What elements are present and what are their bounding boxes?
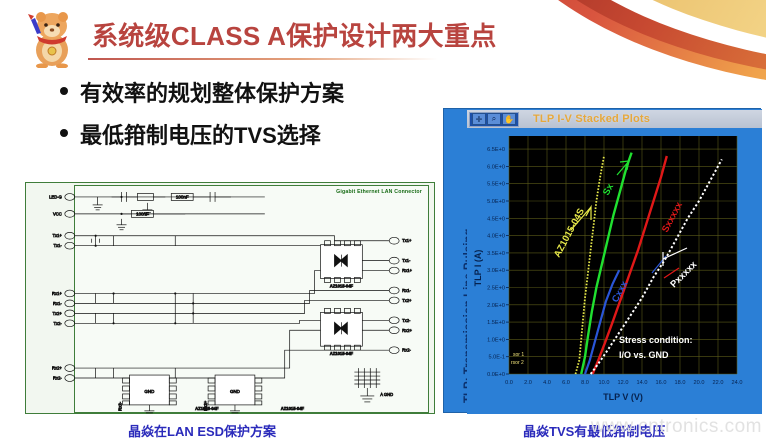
- svg-text:Rx2+: Rx2+: [402, 328, 412, 333]
- svg-text:2.0: 2.0: [524, 380, 532, 386]
- list-item: 最低箝制电压的TVS选择: [60, 118, 344, 150]
- svg-text:Tx2+: Tx2+: [52, 311, 62, 316]
- svg-text:6.5E+0: 6.5E+0: [487, 147, 505, 153]
- tlp-plot: 0.0E+0 5.0E-1 1.0E+0 1.5E+0 2.0E+0 2.5E+…: [467, 128, 762, 414]
- svg-text:Rx2-: Rx2-: [53, 376, 62, 381]
- svg-text:100nF: 100nF: [136, 211, 149, 216]
- cursor-legend-2: rsor 2: [511, 360, 524, 366]
- svg-text:Rx2-: Rx2-: [118, 401, 123, 411]
- move-icon[interactable]: ✛: [472, 113, 486, 125]
- bullet-list: 有效率的规划整体保护方案 最低箝制电压的TVS选择: [60, 76, 344, 160]
- bullet-text: 有效率的规划整体保护方案: [80, 76, 344, 108]
- lan-esd-schematic: Gigabit Ethernet LAN Connector LED-G VCC…: [25, 182, 435, 414]
- caption-left: 晶焱在LAN ESD保护方案: [128, 421, 276, 440]
- stress-condition-line1: Stress condition:: [619, 335, 693, 345]
- x-axis-title: TLP V (V): [603, 392, 643, 402]
- svg-text:2.0E+0: 2.0E+0: [487, 303, 505, 309]
- svg-text:Rx2+: Rx2+: [52, 366, 62, 371]
- tlp-chart-panel: TLP: Transmission Line Pulsing ✛ ⌕ ✋ TLP…: [443, 108, 761, 413]
- svg-text:4.0E+0: 4.0E+0: [487, 234, 505, 240]
- cursor-legend-1: sor 1: [513, 352, 524, 358]
- pan-icon[interactable]: ✋: [502, 113, 516, 125]
- svg-text:10.0: 10.0: [599, 380, 610, 386]
- svg-text:1.0E+0: 1.0E+0: [487, 337, 505, 343]
- page-title: 系统级CLASS A保护设计两大重点: [92, 16, 497, 53]
- svg-text:AZ1015-04F: AZ1015-04F: [281, 406, 305, 411]
- tlp-side-label-wrap: TLP: Transmission Line Pulsing: [447, 115, 469, 407]
- svg-text:3.0E+0: 3.0E+0: [487, 268, 505, 274]
- svg-text:Tx1-: Tx1-: [54, 243, 63, 248]
- svg-text:Rx1-: Rx1-: [402, 288, 411, 293]
- svg-text:Rx1-: Rx1-: [53, 301, 62, 306]
- svg-text:6.0: 6.0: [562, 380, 570, 386]
- svg-text:20.0: 20.0: [694, 380, 705, 386]
- bullet-dot-icon: [60, 129, 68, 137]
- svg-text:8.0: 8.0: [581, 380, 589, 386]
- svg-text:4.0: 4.0: [543, 380, 551, 386]
- svg-text:Tx1+: Tx1+: [52, 233, 62, 238]
- tlp-titlebar: ✛ ⌕ ✋ TLP I-V Stacked Plots: [467, 110, 762, 128]
- svg-text:100nF: 100nF: [176, 194, 189, 199]
- svg-text:Tx2+: Tx2+: [402, 298, 412, 303]
- svg-text:0.0E+0: 0.0E+0: [487, 372, 505, 378]
- svg-text:AZ1015-04F: AZ1015-04F: [330, 351, 354, 356]
- svg-text:A GND: A GND: [380, 392, 393, 397]
- svg-text:Rx1+: Rx1+: [402, 268, 412, 273]
- svg-text:1.5E+0: 1.5E+0: [487, 320, 505, 326]
- stress-condition-line2: I/O vs. GND: [619, 350, 669, 360]
- svg-text:Tx2-: Tx2-: [54, 321, 63, 326]
- svg-text:Rx1+: Rx1+: [52, 291, 62, 296]
- svg-text:VCC: VCC: [53, 211, 62, 216]
- svg-text:GND: GND: [144, 389, 155, 394]
- svg-text:AZ1015-04F: AZ1015-04F: [330, 283, 354, 288]
- watermark: www.cntronics.com: [591, 416, 762, 438]
- svg-text:4.5E+0: 4.5E+0: [487, 216, 505, 222]
- svg-text:Rx2+: Rx2+: [203, 400, 208, 411]
- svg-text:16.0: 16.0: [656, 380, 667, 386]
- bullet-dot-icon: [60, 87, 68, 95]
- schematic-drawing: LED-G VCC Tx1+ Tx1- Rx1+ Rx1- Tx2+ Tx2- …: [26, 183, 434, 414]
- svg-text:5.5E+0: 5.5E+0: [487, 182, 505, 188]
- svg-text:12.0: 12.0: [618, 380, 629, 386]
- svg-text:6.0E+0: 6.0E+0: [487, 164, 505, 170]
- svg-text:14.0: 14.0: [637, 380, 648, 386]
- svg-text:18.0: 18.0: [675, 380, 686, 386]
- svg-text:0.0: 0.0: [505, 380, 513, 386]
- tlp-window-title: TLP I-V Stacked Plots: [533, 113, 650, 125]
- svg-text:3.5E+0: 3.5E+0: [487, 251, 505, 257]
- svg-text:5.0E-1: 5.0E-1: [489, 355, 505, 361]
- mascot-icon: [25, 6, 79, 68]
- bullet-text: 最低箝制电压的TVS选择: [80, 118, 321, 150]
- y-axis-title: TLP I (A): [473, 250, 483, 287]
- zoom-icon[interactable]: ⌕: [487, 113, 501, 125]
- svg-text:22.0: 22.0: [713, 380, 724, 386]
- svg-text:24.0: 24.0: [732, 380, 743, 386]
- tlp-toolbar[interactable]: ✛ ⌕ ✋: [469, 112, 519, 127]
- svg-text:Rx2-: Rx2-: [402, 348, 411, 353]
- svg-text:5.0E+0: 5.0E+0: [487, 199, 505, 205]
- title-underline: [88, 58, 438, 60]
- svg-text:GND: GND: [230, 389, 241, 394]
- svg-text:Tx1+: Tx1+: [402, 238, 412, 243]
- svg-text:Tx1-: Tx1-: [402, 258, 411, 263]
- svg-text:2.5E+0: 2.5E+0: [487, 286, 505, 292]
- tlp-window: ✛ ⌕ ✋ TLP I-V Stacked Plots: [467, 109, 762, 414]
- list-item: 有效率的规划整体保护方案: [60, 76, 344, 108]
- svg-text:LED-G: LED-G: [49, 194, 62, 199]
- slide-root: 系统级CLASS A保护设计两大重点 有效率的规划整体保护方案 最低箝制电压的T…: [0, 0, 766, 444]
- svg-text:Tx2-: Tx2-: [402, 318, 411, 323]
